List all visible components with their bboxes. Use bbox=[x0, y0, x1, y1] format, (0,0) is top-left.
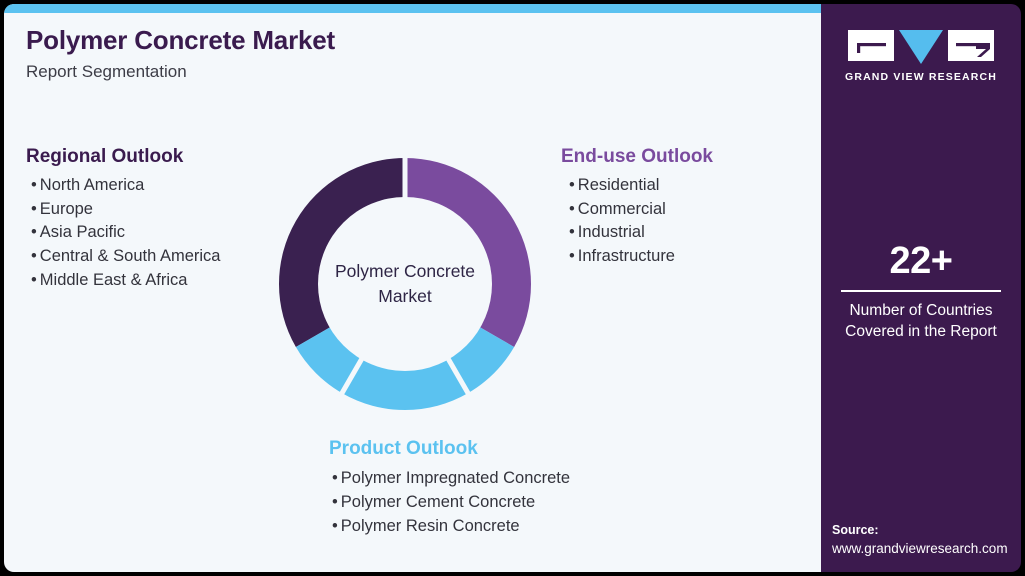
stat-label-line-2: Covered in the Report bbox=[821, 321, 1021, 342]
main-panel: Polymer Concrete Market Report Segmentat… bbox=[4, 4, 821, 572]
bullet-icon: • bbox=[332, 514, 338, 538]
stat-label-line-1: Number of Countries bbox=[821, 300, 1021, 321]
segmentation-donut-chart: Polymer Concrete Market bbox=[265, 144, 545, 424]
list-item-label: Polymer Impregnated Concrete bbox=[341, 469, 570, 487]
stat-divider bbox=[841, 290, 1001, 292]
regional-outlook-list: •North America •Europe •Asia Pacific •Ce… bbox=[26, 174, 220, 293]
bullet-icon: • bbox=[31, 269, 37, 293]
source-url[interactable]: www.grandviewresearch.com bbox=[832, 539, 1021, 558]
list-item-label: Central & South America bbox=[40, 247, 221, 265]
bullet-icon: • bbox=[31, 174, 37, 198]
list-item-label: Asia Pacific bbox=[40, 223, 125, 241]
list-item: •Asia Pacific bbox=[31, 221, 220, 245]
list-item: •Polymer Cement Concrete bbox=[332, 490, 570, 514]
bullet-icon: • bbox=[31, 221, 37, 245]
bullet-icon: • bbox=[569, 174, 575, 198]
header: Polymer Concrete Market Report Segmentat… bbox=[26, 26, 626, 82]
list-item: •North America bbox=[31, 174, 220, 198]
list-item: •Residential bbox=[569, 174, 713, 198]
bullet-icon: • bbox=[569, 221, 575, 245]
donut-svg bbox=[265, 144, 545, 424]
logo-wordmark: GRAND VIEW RESEARCH bbox=[845, 71, 997, 83]
list-item-label: Polymer Resin Concrete bbox=[341, 517, 520, 535]
list-item-label: Commercial bbox=[578, 200, 666, 218]
regional-outlook-block: Regional Outlook •North America •Europe … bbox=[26, 146, 220, 293]
logo-r-icon bbox=[948, 30, 994, 61]
bullet-icon: • bbox=[332, 466, 338, 490]
donut-hole bbox=[318, 197, 492, 371]
top-accent-bar bbox=[4, 4, 821, 13]
product-outlook-heading: Product Outlook bbox=[329, 438, 570, 461]
list-item-label: North America bbox=[40, 176, 145, 194]
brand-logo: GRAND VIEW RESEARCH bbox=[821, 30, 1021, 83]
bullet-icon: • bbox=[569, 245, 575, 269]
list-item-label: Infrastructure bbox=[578, 247, 675, 265]
bullet-icon: • bbox=[31, 198, 37, 222]
enduse-outlook-heading: End-use Outlook bbox=[561, 146, 713, 169]
list-item: •Infrastructure bbox=[569, 245, 713, 269]
list-item: •Industrial bbox=[569, 221, 713, 245]
product-outlook-list: •Polymer Impregnated Concrete •Polymer C… bbox=[329, 466, 570, 538]
bullet-icon: • bbox=[569, 198, 575, 222]
product-outlook-block: Product Outlook •Polymer Impregnated Con… bbox=[329, 438, 570, 538]
list-item: •Europe bbox=[31, 198, 220, 222]
list-item-label: Industrial bbox=[578, 223, 645, 241]
list-item-label: Polymer Cement Concrete bbox=[341, 493, 535, 511]
logo-g-icon bbox=[848, 30, 894, 61]
list-item: •Polymer Impregnated Concrete bbox=[332, 466, 570, 490]
infographic-root: Polymer Concrete Market Report Segmentat… bbox=[0, 0, 1025, 576]
list-item: •Central & South America bbox=[31, 245, 220, 269]
source-label: Source: bbox=[832, 521, 1021, 539]
list-item: •Polymer Resin Concrete bbox=[332, 514, 570, 538]
stat-value: 22+ bbox=[821, 242, 1021, 280]
list-item: •Middle East & Africa bbox=[31, 269, 220, 293]
page-title: Polymer Concrete Market bbox=[26, 26, 626, 55]
sidebar-panel: GRAND VIEW RESEARCH 22+ Number of Countr… bbox=[821, 4, 1021, 572]
logo-marks bbox=[848, 30, 994, 64]
list-item-label: Middle East & Africa bbox=[40, 271, 188, 289]
logo-v-triangle-icon bbox=[899, 30, 943, 64]
source-block: Source: www.grandviewresearch.com bbox=[832, 521, 1021, 558]
list-item-label: Europe bbox=[40, 200, 93, 218]
list-item-label: Residential bbox=[578, 176, 660, 194]
list-item: •Commercial bbox=[569, 198, 713, 222]
bullet-icon: • bbox=[31, 245, 37, 269]
bullet-icon: • bbox=[332, 490, 338, 514]
enduse-outlook-list: •Residential •Commercial •Industrial •In… bbox=[561, 174, 713, 269]
page-subtitle: Report Segmentation bbox=[26, 62, 626, 82]
stat-block: 22+ Number of Countries Covered in the R… bbox=[821, 242, 1021, 342]
regional-outlook-heading: Regional Outlook bbox=[26, 146, 220, 169]
enduse-outlook-block: End-use Outlook •Residential •Commercial… bbox=[561, 146, 713, 269]
